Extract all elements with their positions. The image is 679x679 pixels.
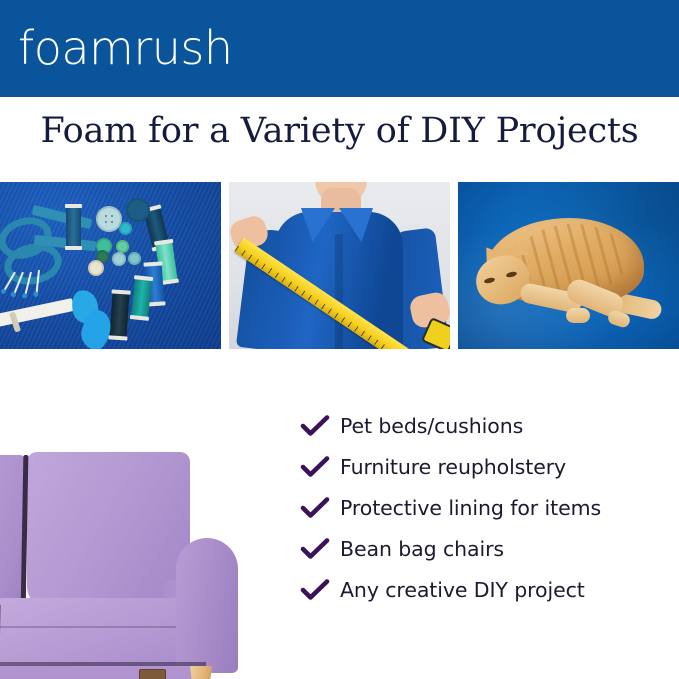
header-banner: foamrush — [0, 0, 679, 97]
check-icon — [300, 537, 340, 561]
sofa-center-leg-block — [139, 669, 166, 679]
sofa-seat-welt-line — [0, 626, 200, 628]
check-icon — [300, 414, 340, 438]
lavender-sofa-illustration — [0, 430, 278, 679]
check-icon — [300, 578, 340, 602]
list-item-label: Furniture reupholstery — [340, 455, 566, 479]
check-icon — [300, 455, 340, 479]
list-item: Protective lining for items — [300, 487, 670, 528]
page-title: Foam for a Variety of DIY Projects — [0, 108, 679, 154]
button-icon — [128, 252, 141, 265]
thread-spool — [109, 289, 129, 340]
sofa-rolled-arm — [176, 538, 238, 673]
cat-on-cushion-photo — [458, 182, 679, 349]
button-icon — [119, 222, 132, 235]
list-item: Any creative DIY project — [300, 569, 670, 610]
brand-logo: foamrush — [18, 22, 233, 74]
list-item-label: Any creative DIY project — [340, 578, 585, 602]
list-item-label: Protective lining for items — [340, 496, 601, 520]
sofa-seat-cushion — [0, 598, 202, 668]
button-icon — [112, 252, 126, 266]
list-item-label: Pet beds/cushions — [340, 414, 523, 438]
list-item: Furniture reupholstery — [300, 446, 670, 487]
cat-paw — [566, 308, 590, 323]
sewing-supplies-photo — [0, 182, 221, 349]
check-icon — [300, 496, 340, 520]
benefits-list: Pet beds/cushions Furniture reupholstery… — [300, 405, 670, 610]
shirt-placket — [335, 234, 343, 349]
list-item: Pet beds/cushions — [300, 405, 670, 446]
button-icon — [126, 198, 150, 222]
list-item-label: Bean bag chairs — [340, 537, 504, 561]
sofa-wooden-leg — [190, 666, 212, 679]
button-icon — [88, 260, 104, 276]
tape-measure-photo — [229, 182, 450, 349]
list-item: Bean bag chairs — [300, 528, 670, 569]
photo-strip — [0, 182, 679, 349]
sofa-base-rail — [0, 666, 208, 679]
thread-spool — [66, 204, 81, 250]
product-feature-image: foamrush Foam for a Variety of DIY Proje… — [0, 0, 679, 679]
